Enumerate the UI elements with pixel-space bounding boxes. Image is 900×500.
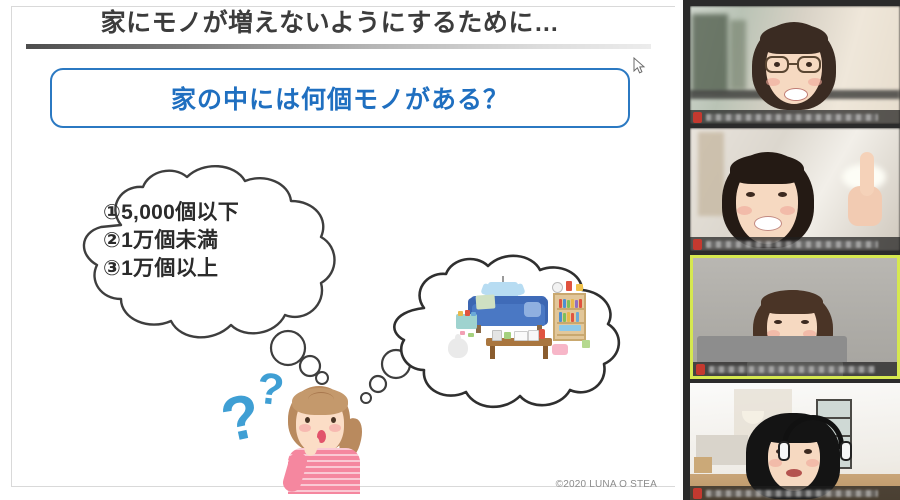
option-2: ②1万個未満	[103, 227, 333, 255]
video-feed-4	[690, 383, 900, 500]
mic-muted-icon	[696, 364, 705, 375]
cluttered-room-illustration	[440, 278, 600, 378]
title-divider	[26, 44, 651, 49]
question-text: 家の中には何個モノがある？	[52, 70, 628, 126]
question-box: 家の中には何個モノがある？	[50, 68, 630, 128]
participant-name-bar-3	[693, 362, 897, 376]
shared-slide[interactable]: 家にモノが増えないようにするために… 家の中には何個モノがある？ ①5,000個…	[0, 0, 683, 500]
participant-avatar-1	[746, 22, 844, 124]
participant-tile-3-active-speaker[interactable]	[690, 255, 900, 379]
bookshelf	[553, 293, 586, 341]
slide-title: 家にモノが増えないようにするために…	[30, 7, 630, 40]
participant-name-bar-4	[690, 486, 900, 500]
pointing-hand	[848, 152, 882, 226]
participant-name-3	[709, 366, 875, 373]
mic-muted-icon	[693, 488, 702, 499]
thinking-woman-illustration	[278, 382, 374, 492]
participant-video-panel	[683, 0, 900, 500]
participant-name-4	[706, 490, 878, 497]
laptop	[697, 336, 847, 362]
option-3: ③1万個以上	[103, 255, 333, 283]
participant-tile-2[interactable]	[690, 128, 900, 251]
mouse-cursor	[633, 57, 647, 75]
mic-muted-icon	[693, 239, 702, 250]
options-list: ①5,000個以下 ②1万個未満 ③1万個以上	[103, 199, 333, 283]
participant-tile-4[interactable]	[690, 383, 900, 500]
video-feed-2	[690, 128, 900, 251]
video-feed-3	[693, 258, 897, 376]
participant-name-1	[706, 114, 878, 121]
toy-box	[456, 314, 477, 329]
mic-muted-icon	[693, 112, 702, 123]
participant-tile-1[interactable]	[690, 6, 900, 124]
copyright-text: ©2020 LUNA O STEA	[556, 479, 657, 490]
participant-name-bar-1	[690, 110, 900, 124]
participant-name-bar-2	[690, 237, 900, 251]
headset-earcup-right	[840, 441, 852, 461]
options-thought-cloud: ①5,000個以下 ②1万個未満 ③1万個以上	[63, 163, 363, 348]
video-feed-1	[690, 6, 900, 124]
participant-name-2	[706, 241, 878, 248]
screen-share-meeting-view: 家にモノが増えないようにするために… 家の中には何個モノがある？ ①5,000個…	[0, 0, 900, 500]
headset-earcup-left	[778, 441, 790, 461]
option-1: ①5,000個以下	[103, 199, 333, 227]
trash-bag	[448, 338, 468, 358]
